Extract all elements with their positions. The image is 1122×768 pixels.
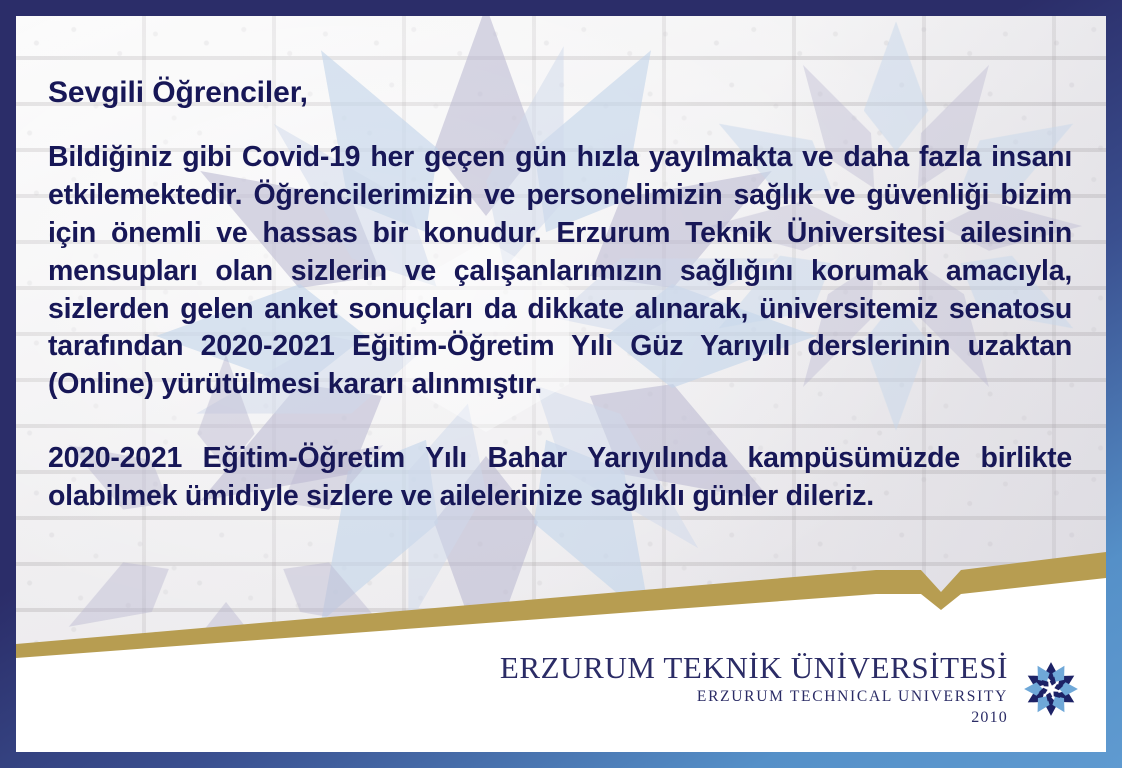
snowflake-star-emblem-icon [1020,658,1082,720]
logo-wordmark: ERZURUM TEKNİK ÜNİVERSİTESİ ERZURUM TECH… [500,652,1008,727]
logo-name-tr: ERZURUM TEKNİK ÜNİVERSİTESİ [500,652,1008,683]
poster-card: Sevgili Öğrenciler, Bildiğiniz gibi Covi… [16,16,1106,752]
logo-name-en: ERZURUM TECHNICAL UNIVERSITY [500,689,1008,705]
paragraph-2: 2020-2021 Eğitim-Öğretim Yılı Bahar Yarı… [48,440,1072,516]
announcement-poster: Sevgili Öğrenciler, Bildiğiniz gibi Covi… [0,0,1122,768]
salutation-text: Sevgili Öğrenciler, [48,76,1072,109]
announcement-message: Sevgili Öğrenciler, Bildiğiniz gibi Covi… [48,76,1072,516]
university-logo: ERZURUM TEKNİK ÜNİVERSİTESİ ERZURUM TECH… [500,652,1082,727]
logo-founding-year: 2010 [500,710,1008,726]
paragraph-1: Bildiğiniz gibi Covid-19 her geçen gün h… [48,139,1072,404]
